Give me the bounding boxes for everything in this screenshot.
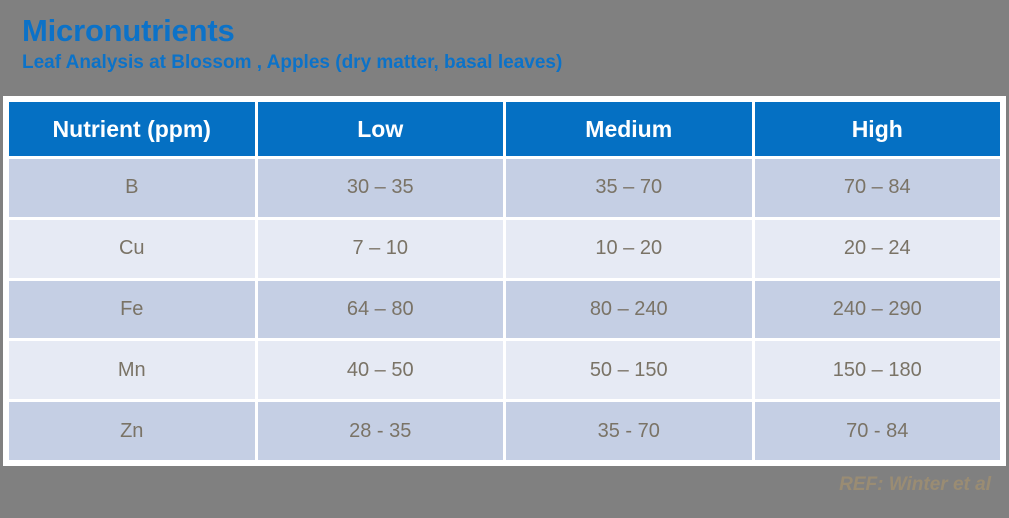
slide: Micronutrients Leaf Analysis at Blossom …	[0, 0, 1009, 518]
column-header-high: High	[755, 102, 1001, 156]
cell-medium: 10 – 20	[506, 220, 752, 278]
cell-medium: 35 – 70	[506, 159, 752, 217]
nutrient-table: Nutrient (ppm) Low Medium High B 30 – 35…	[6, 99, 1003, 463]
cell-high: 240 – 290	[755, 281, 1001, 339]
cell-low: 28 - 35	[258, 402, 504, 460]
nutrient-table-frame: Nutrient (ppm) Low Medium High B 30 – 35…	[3, 96, 1006, 466]
column-header-nutrient: Nutrient (ppm)	[9, 102, 255, 156]
table-header: Nutrient (ppm) Low Medium High	[9, 102, 1000, 156]
reference-note: REF: Winter et al	[839, 474, 991, 496]
cell-low: 40 – 50	[258, 341, 504, 399]
cell-nutrient: Zn	[9, 402, 255, 460]
column-header-low: Low	[258, 102, 504, 156]
cell-nutrient: Mn	[9, 341, 255, 399]
page-title: Micronutrients	[22, 14, 982, 47]
cell-high: 70 - 84	[755, 402, 1001, 460]
cell-nutrient: Fe	[9, 281, 255, 339]
table-row: Zn 28 - 35 35 - 70 70 - 84	[9, 402, 1000, 460]
table-body: B 30 – 35 35 – 70 70 – 84 Cu 7 – 10 10 –…	[9, 159, 1000, 460]
cell-high: 150 – 180	[755, 341, 1001, 399]
table-row: Mn 40 – 50 50 – 150 150 – 180	[9, 341, 1000, 399]
table-row: B 30 – 35 35 – 70 70 – 84	[9, 159, 1000, 217]
column-header-medium: Medium	[506, 102, 752, 156]
table-row: Cu 7 – 10 10 – 20 20 – 24	[9, 220, 1000, 278]
title-block: Micronutrients Leaf Analysis at Blossom …	[22, 14, 982, 74]
cell-low: 7 – 10	[258, 220, 504, 278]
cell-nutrient: B	[9, 159, 255, 217]
cell-low: 64 – 80	[258, 281, 504, 339]
page-subtitle: Leaf Analysis at Blossom , Apples (dry m…	[22, 53, 982, 74]
cell-high: 70 – 84	[755, 159, 1001, 217]
cell-nutrient: Cu	[9, 220, 255, 278]
table-header-row: Nutrient (ppm) Low Medium High	[9, 102, 1000, 156]
cell-medium: 80 – 240	[506, 281, 752, 339]
table-row: Fe 64 – 80 80 – 240 240 – 290	[9, 281, 1000, 339]
cell-medium: 35 - 70	[506, 402, 752, 460]
cell-high: 20 – 24	[755, 220, 1001, 278]
cell-low: 30 – 35	[258, 159, 504, 217]
cell-medium: 50 – 150	[506, 341, 752, 399]
